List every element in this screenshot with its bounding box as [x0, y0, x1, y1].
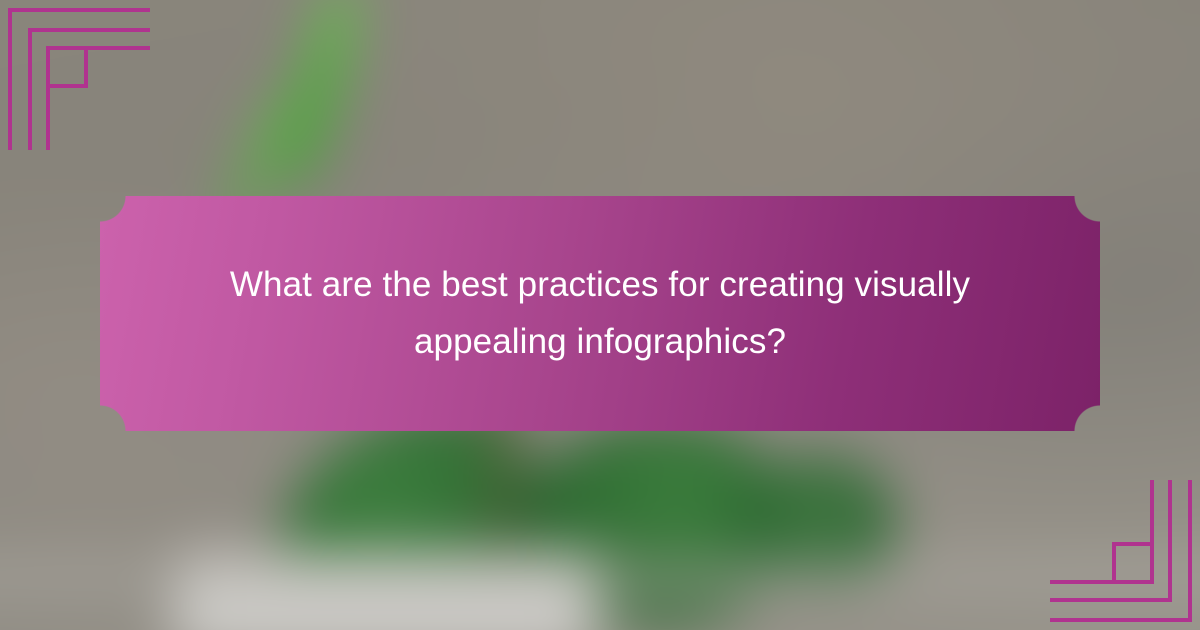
greek-key-icon: [1050, 480, 1200, 630]
question-text: What are the best practices for creating…: [220, 257, 980, 370]
corner-ornament-bottom-right: [1050, 480, 1200, 630]
quote-card: What are the best practices for creating…: [0, 0, 1200, 630]
greek-key-icon: [0, 0, 150, 150]
question-banner: What are the best practices for creating…: [100, 196, 1100, 431]
table-surface: [0, 560, 1200, 602]
corner-ornament-top-left: [0, 0, 150, 150]
